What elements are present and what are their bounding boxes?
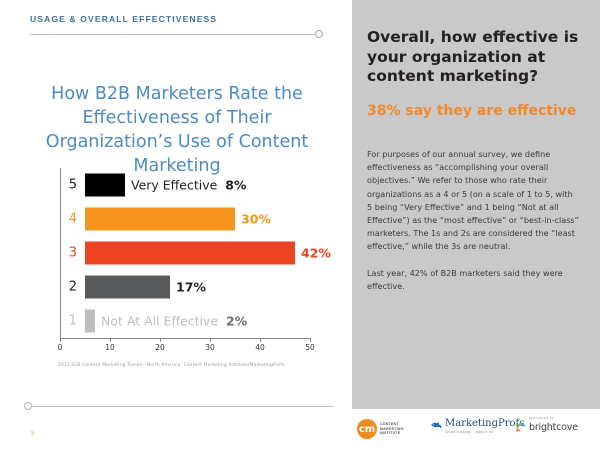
- x-axis-tick: [60, 338, 61, 342]
- cmi-wordmark: CONTENT MARKETING INSTITUTE: [380, 422, 404, 436]
- bar: [85, 276, 170, 299]
- bar-row: 1Not At All Effective 2%: [60, 304, 310, 338]
- bar-category-label: 4: [60, 212, 77, 227]
- x-axis-tick-label: 50: [305, 343, 315, 352]
- section-header: USAGE & OVERALL EFFECTIVENESS: [30, 14, 330, 40]
- x-axis-tick-label: 20: [155, 343, 165, 352]
- marketingprofs-tagline: Smart thinking ... pass it on: [445, 430, 524, 434]
- chart-title: How B2B Marketers Rate the Effectiveness…: [22, 82, 332, 178]
- bar: [85, 310, 95, 333]
- x-axis-tick-label: 40: [255, 343, 265, 352]
- header-divider-line: [30, 34, 320, 35]
- cmi-wordmark-line-3: INSTITUTE: [380, 431, 404, 436]
- page-number: 9: [30, 429, 34, 437]
- right-panel: Overall, how effective is your organizat…: [352, 0, 600, 409]
- footer-rule-group: [24, 402, 334, 412]
- x-axis-tick-label: 10: [105, 343, 115, 352]
- bar-category-label: 1: [60, 314, 77, 329]
- bar-annotation-value: 30%: [241, 212, 271, 227]
- brightcove-wordmark: brightcove: [529, 422, 578, 433]
- sponsored-by-label: sponsored by: [529, 416, 578, 420]
- bar-annotation-name: Not At All Effective: [101, 314, 226, 329]
- panel-subheadline: 38% say they are effective: [367, 103, 587, 119]
- bar-category-label: 2: [60, 280, 77, 295]
- bar-value-annotation: 17%: [176, 280, 206, 295]
- logo-brightcove: sponsored by brightcove: [515, 416, 578, 433]
- bar-value-annotation: 30%: [241, 212, 271, 227]
- bar: [85, 174, 125, 197]
- brightcove-leaf-icon: [515, 421, 527, 433]
- bar-annotation-name: Very Effective: [131, 178, 225, 193]
- marketingprofs-wordmark: MarketingProfs: [445, 419, 524, 429]
- panel-headline: Overall, how effective is your organizat…: [367, 28, 585, 87]
- bar-annotation-value: 17%: [176, 280, 206, 295]
- x-axis-tick: [110, 338, 111, 342]
- header-divider-endpoint-circle: [315, 30, 323, 38]
- bar-category-label: 5: [60, 178, 77, 193]
- bar-row: 217%: [60, 270, 310, 304]
- x-axis-tick: [210, 338, 211, 342]
- header-rule-group: [30, 30, 330, 40]
- bar-row: 342%: [60, 236, 310, 270]
- footer-divider-endpoint-circle: [24, 402, 32, 410]
- x-axis-tick: [260, 338, 261, 342]
- bird-icon: [430, 420, 443, 433]
- x-axis-tick: [160, 338, 161, 342]
- chart-x-axis-line: [60, 338, 310, 339]
- bar-annotation-value: 42%: [301, 246, 331, 261]
- bar-value-annotation: Very Effective 8%: [131, 178, 247, 193]
- bar-value-annotation: 42%: [301, 246, 331, 261]
- chart-source-citation: 2015 B2B Content Marketing Trends—North …: [58, 363, 348, 368]
- footer-divider-line: [32, 406, 334, 407]
- x-axis-tick-label: 0: [58, 343, 63, 352]
- bar-value-annotation: Not At All Effective 2%: [101, 314, 247, 329]
- x-axis-tick-label: 30: [205, 343, 215, 352]
- x-axis-tick: [310, 338, 311, 342]
- bar-category-label: 3: [60, 246, 77, 261]
- brightcove-row: brightcove: [515, 421, 578, 433]
- panel-paragraph-1: For purposes of our annual survey, we de…: [367, 148, 579, 254]
- panel-body-text: For purposes of our annual survey, we de…: [367, 148, 579, 306]
- chart-x-axis: 01020304050: [60, 338, 310, 356]
- cmi-circle-icon: cm: [357, 419, 377, 439]
- bar-row: 430%: [60, 202, 310, 236]
- bar: [85, 208, 235, 231]
- marketingprofs-text-block: MarketingProfs Smart thinking ... pass i…: [445, 419, 524, 434]
- brightcove-block: sponsored by brightcove: [515, 416, 578, 433]
- footer-logo-strip: cm CONTENT MARKETING INSTITUTE Marketing…: [352, 409, 600, 450]
- section-eyebrow-label: USAGE & OVERALL EFFECTIVENESS: [30, 14, 330, 24]
- bar: [85, 242, 295, 265]
- logo-marketingprofs: MarketingProfs Smart thinking ... pass i…: [430, 419, 524, 434]
- logo-content-marketing-institute: cm CONTENT MARKETING INSTITUTE: [357, 419, 404, 439]
- panel-paragraph-2: Last year, 42% of B2B marketers said the…: [367, 267, 579, 293]
- bar-chart: 5Very Effective 8%430%342%217%1Not At Al…: [36, 168, 326, 356]
- chart-plot-area: 5Very Effective 8%430%342%217%1Not At Al…: [60, 168, 310, 338]
- bar-row: 5Very Effective 8%: [60, 168, 310, 202]
- bar-annotation-value: 8%: [225, 178, 246, 193]
- bar-annotation-value: 2%: [226, 314, 247, 329]
- left-panel: USAGE & OVERALL EFFECTIVENESS How B2B Ma…: [0, 0, 352, 450]
